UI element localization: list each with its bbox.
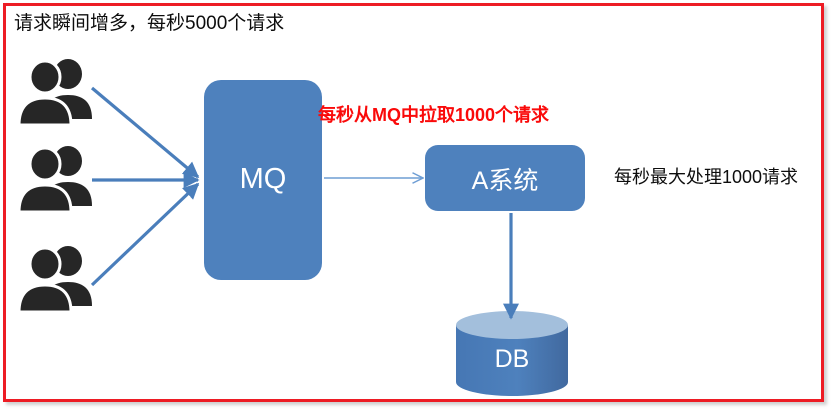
users-icon xyxy=(11,244,101,314)
user-group-1 xyxy=(11,57,101,127)
users-icon xyxy=(11,57,101,127)
user-group-2 xyxy=(11,144,101,214)
users-icon xyxy=(11,144,101,214)
user-group-3 xyxy=(11,244,101,314)
db-node-label: DB xyxy=(456,345,568,374)
mq-node-label: MQ xyxy=(204,163,322,196)
incoming-load-annotation: 请求瞬间增多，每秒5000个请求 xyxy=(14,13,284,35)
diagram-canvas: 请求瞬间增多，每秒5000个请求 每秒从MQ中拉取1000个请求 每秒最大处理1… xyxy=(0,0,834,412)
red-border-frame xyxy=(3,3,824,402)
a-system-node-label: A系统 xyxy=(425,161,585,197)
max-capacity-annotation: 每秒最大处理1000请求 xyxy=(614,167,798,188)
pull-rate-annotation: 每秒从MQ中拉取1000个请求 xyxy=(318,105,549,126)
